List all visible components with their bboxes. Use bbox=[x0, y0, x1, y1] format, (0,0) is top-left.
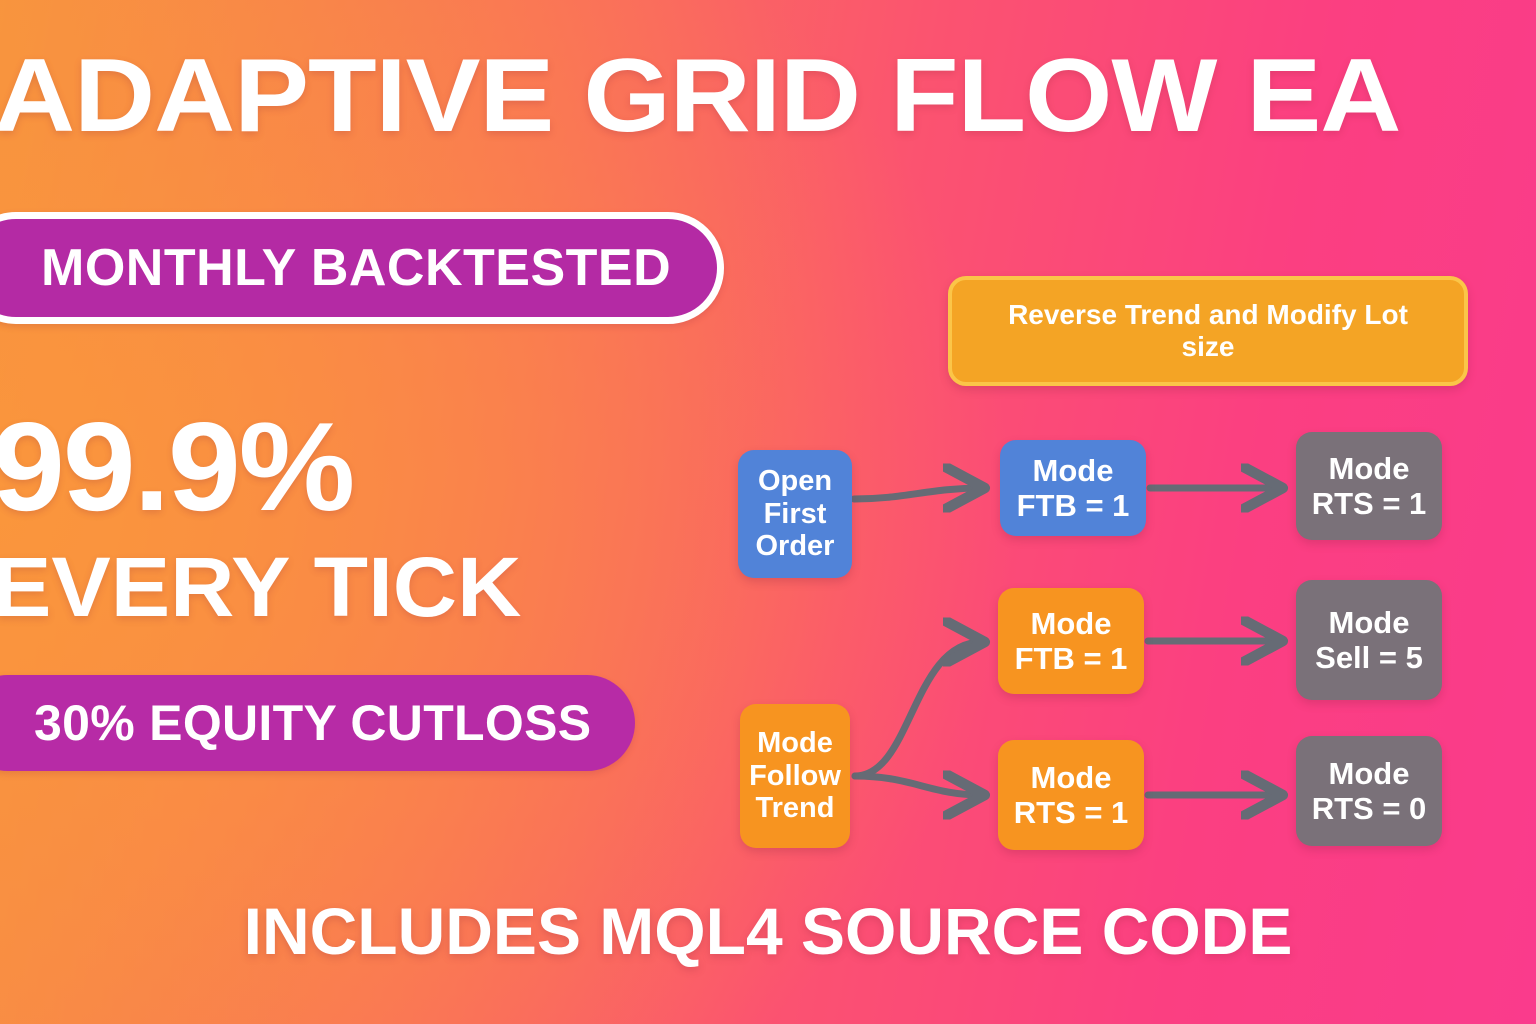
node-mode-follow-trend-line2: Follow bbox=[749, 760, 841, 793]
node-mode-rts-1-top-line2: RTS = 1 bbox=[1312, 486, 1427, 521]
node-mode-sell-5: Mode Sell = 5 bbox=[1296, 580, 1442, 700]
node-reverse-trend-banner-line1: Reverse Trend and Modify Lot bbox=[1008, 299, 1408, 331]
promo-graphic: ADAPTIVE GRID FLOW EA MONTHLY BACKTESTED… bbox=[0, 0, 1536, 1024]
node-mode-ftb-1-mid-line1: Mode bbox=[1031, 606, 1112, 641]
node-open-first-order: Open First Order bbox=[738, 450, 852, 578]
flow-diagram: Reverse Trend and Modify Lot size Open F… bbox=[0, 0, 1536, 1024]
node-mode-ftb-1-top: Mode FTB = 1 bbox=[1000, 440, 1146, 536]
node-mode-ftb-1-top-line2: FTB = 1 bbox=[1017, 488, 1130, 523]
node-reverse-trend-banner-line2: size bbox=[1182, 331, 1235, 363]
node-mode-follow-trend: Mode Follow Trend bbox=[740, 704, 850, 848]
edge-open-to-ftb-top bbox=[854, 488, 982, 499]
node-mode-rts-0-line2: RTS = 0 bbox=[1312, 791, 1427, 826]
node-mode-follow-trend-line1: Mode bbox=[757, 727, 833, 760]
node-reverse-trend-banner: Reverse Trend and Modify Lot size bbox=[948, 276, 1468, 386]
edge-follow-to-ftb-mid bbox=[855, 642, 982, 776]
node-mode-rts-0-line1: Mode bbox=[1329, 756, 1410, 791]
node-mode-rts-1-top: Mode RTS = 1 bbox=[1296, 432, 1442, 540]
node-mode-sell-5-line2: Sell = 5 bbox=[1315, 640, 1423, 675]
node-open-first-order-line3: Order bbox=[756, 530, 835, 563]
node-open-first-order-line2: First bbox=[764, 498, 827, 531]
node-mode-ftb-1-mid: Mode FTB = 1 bbox=[998, 588, 1144, 694]
node-mode-rts-1-top-line1: Mode bbox=[1329, 451, 1410, 486]
node-open-first-order-line1: Open bbox=[758, 465, 832, 498]
node-mode-rts-1-bottom-line2: RTS = 1 bbox=[1014, 795, 1129, 830]
node-mode-sell-5-line1: Mode bbox=[1329, 605, 1410, 640]
node-mode-ftb-1-mid-line2: FTB = 1 bbox=[1015, 641, 1128, 676]
node-mode-rts-1-bottom-line1: Mode bbox=[1031, 760, 1112, 795]
edge-follow-to-rts-bottom bbox=[855, 776, 982, 795]
node-mode-ftb-1-top-line1: Mode bbox=[1033, 453, 1114, 488]
node-mode-follow-trend-line3: Trend bbox=[756, 792, 835, 825]
node-mode-rts-1-bottom: Mode RTS = 1 bbox=[998, 740, 1144, 850]
node-mode-rts-0: Mode RTS = 0 bbox=[1296, 736, 1442, 846]
